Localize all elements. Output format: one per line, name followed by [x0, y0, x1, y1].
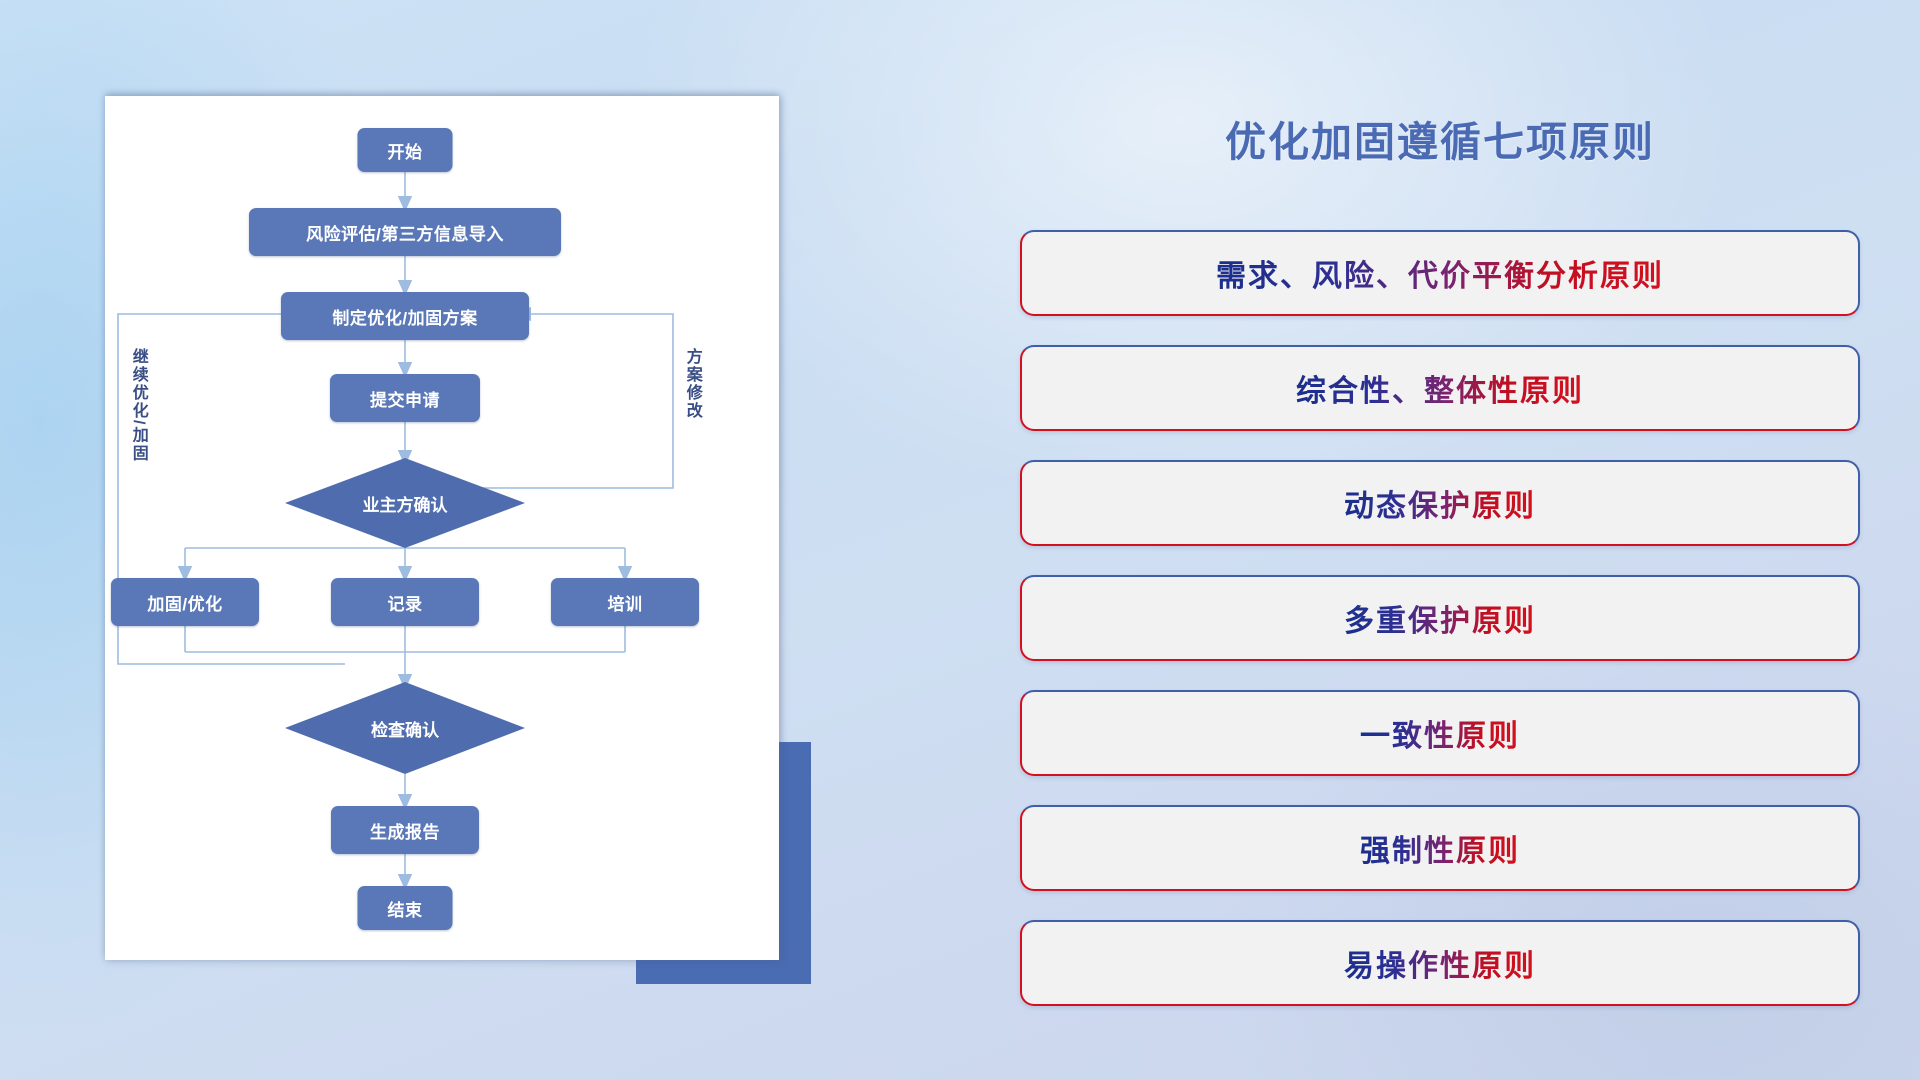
- flow-node-submit-application[interactable]: 提交申请: [330, 374, 480, 422]
- flow-decision-owner-confirm[interactable]: 业主方确认: [285, 458, 525, 548]
- flow-node-training[interactable]: 培训: [551, 578, 699, 626]
- flow-edge-label-plan-revision: 方案修改: [683, 348, 700, 420]
- flow-decision-check-confirm[interactable]: 检查确认: [285, 682, 525, 774]
- principle-label: 动态保护原则: [1344, 481, 1536, 525]
- flow-decision-owner-confirm-label: 业主方确认: [363, 491, 448, 516]
- page-title: 优化加固遵循七项原则: [1020, 108, 1860, 168]
- principle-label: 综合性、整体性原则: [1296, 366, 1584, 410]
- flowchart-canvas: 开始 风险评估/第三方信息导入 制定优化/加固方案 提交申请 业主方确认 加固/…: [105, 96, 779, 960]
- principle-label: 强制性原则: [1360, 826, 1520, 870]
- flowchart-card: 开始 风险评估/第三方信息导入 制定优化/加固方案 提交申请 业主方确认 加固/…: [105, 96, 779, 960]
- principle-item-3[interactable]: 动态保护原则: [1020, 460, 1860, 546]
- flow-node-plan[interactable]: 制定优化/加固方案: [281, 292, 529, 340]
- principles-list: 需求、风险、代价平衡分析原则 综合性、整体性原则 动态保护原则 多重保护原则 一…: [1020, 230, 1860, 1035]
- principle-item-5[interactable]: 一致性原则: [1020, 690, 1860, 776]
- principle-item-2[interactable]: 综合性、整体性原则: [1020, 345, 1860, 431]
- principle-item-1[interactable]: 需求、风险、代价平衡分析原则: [1020, 230, 1860, 316]
- flow-node-start[interactable]: 开始: [358, 128, 453, 172]
- flow-node-end[interactable]: 结束: [358, 886, 453, 930]
- principle-label: 需求、风险、代价平衡分析原则: [1216, 251, 1664, 295]
- principle-item-6[interactable]: 强制性原则: [1020, 805, 1860, 891]
- principles-panel: 优化加固遵循七项原则 需求、风险、代价平衡分析原则 综合性、整体性原则 动态保护…: [1020, 60, 1860, 1020]
- flow-decision-check-confirm-label: 检查确认: [371, 716, 439, 741]
- flow-node-record[interactable]: 记录: [331, 578, 479, 626]
- flow-edge-label-continue-optimize: 继续优化/加固: [129, 348, 146, 462]
- flow-node-risk-assessment[interactable]: 风险评估/第三方信息导入: [249, 208, 561, 256]
- flow-node-generate-report[interactable]: 生成报告: [331, 806, 479, 854]
- principle-label: 易操作性原则: [1344, 941, 1536, 985]
- principle-item-4[interactable]: 多重保护原则: [1020, 575, 1860, 661]
- principle-label: 一致性原则: [1360, 711, 1520, 755]
- principle-label: 多重保护原则: [1344, 596, 1536, 640]
- principle-item-7[interactable]: 易操作性原则: [1020, 920, 1860, 1006]
- flow-node-reinforce[interactable]: 加固/优化: [111, 578, 259, 626]
